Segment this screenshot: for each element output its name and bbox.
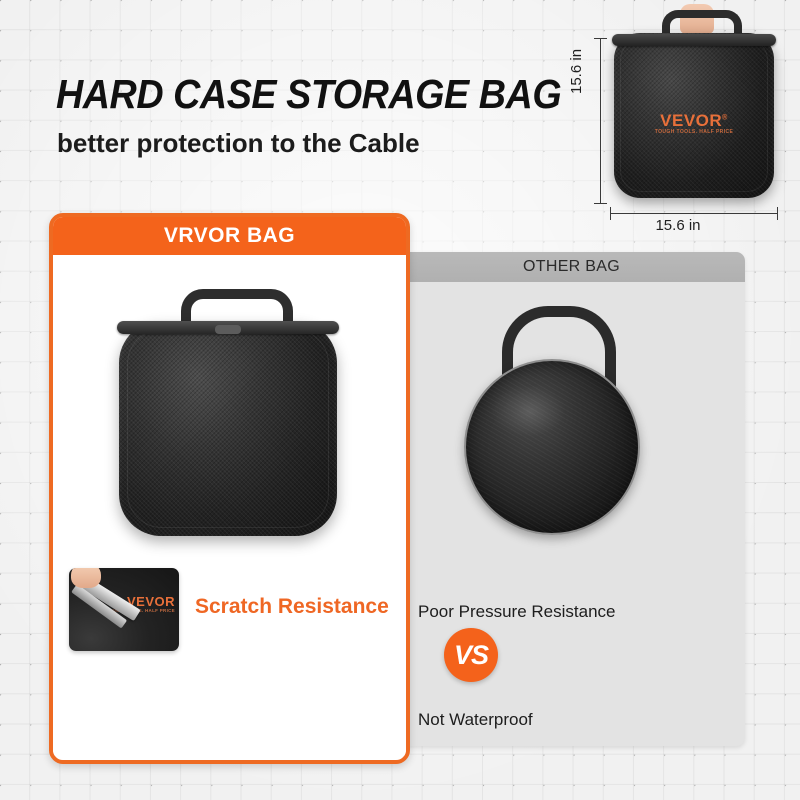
height-dimension-line (600, 38, 601, 204)
vevor-bag-body: VEVOR TOUGH TOOLS. HALF PRICE Scratch Re… (53, 255, 406, 756)
scratch-resistance-thumbnail: VEVOR TOUGH TOOLS. HALF PRICE (69, 568, 179, 651)
page-subtitle: better protection to the Cable (57, 128, 420, 158)
hero-hard-case: VEVOR® TOUGH TOOLS. HALF PRICE (614, 33, 774, 198)
vevor-tagline: TOUGH TOOLS. HALF PRICE (614, 129, 774, 135)
hero-product-image: 15.6 in VEVOR® TOUGH TOOLS. HALF PRICE 1… (562, 6, 794, 232)
width-dimension-line (610, 213, 778, 214)
other-bag-product-image (450, 304, 648, 524)
finger-icon (71, 568, 101, 588)
vs-badge: VS (444, 628, 498, 682)
vevor-logo: VEVOR® (614, 111, 774, 131)
height-dimension-label: 15.6 in (568, 49, 585, 94)
vevor-bag-panel: VRVOR BAG VEVOR TOUGH TOOLS. HALF PRICE … (49, 213, 410, 764)
other-bag-header: OTHER BAG (398, 252, 745, 282)
registered-mark-icon: ® (722, 114, 728, 121)
vevor-product-image (109, 283, 347, 545)
hard-case-shell (119, 321, 337, 536)
vevor-logo-text: VEVOR (660, 111, 722, 130)
other-feature-waterproof: Not Waterproof (418, 710, 533, 730)
other-feature-pressure: Poor Pressure Resistance (418, 602, 615, 622)
width-dimension-label: 15.6 in (562, 217, 794, 234)
round-tote-bag (464, 359, 640, 535)
zipper-pull-icon (215, 325, 241, 334)
page-title: HARD CASE STORAGE BAG (56, 72, 561, 116)
vevor-feature-scratch: Scratch Resistance (195, 595, 389, 619)
other-bag-body: Poor Pressure Resistance Not Waterproof (398, 282, 745, 746)
hero-case-zipper (612, 34, 776, 46)
vevor-bag-header: VRVOR BAG (53, 217, 406, 255)
